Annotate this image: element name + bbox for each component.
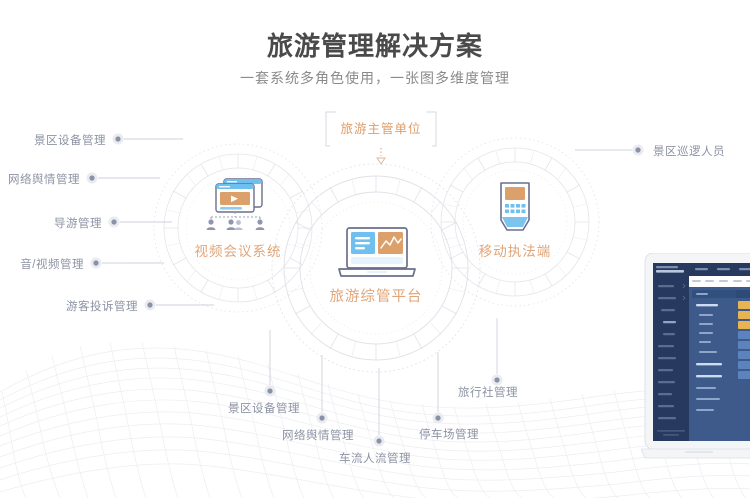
right-label-1[interactable]: 景区巡逻人员: [653, 143, 725, 159]
bottom-label-3[interactable]: 车流人流管理: [339, 450, 411, 466]
right-node-caption[interactable]: 移动执法端: [460, 240, 570, 260]
left-node-caption[interactable]: 视频会议系统: [178, 240, 298, 260]
authority-badge[interactable]: 旅游主管单位: [331, 114, 431, 140]
left-label-1[interactable]: 景区设备管理: [0, 132, 106, 148]
left-label-3[interactable]: 导游管理: [0, 215, 102, 231]
bottom-label-4[interactable]: 停车场管理: [419, 426, 479, 442]
bottom-label-5[interactable]: 旅行社管理: [458, 384, 518, 400]
left-label-2[interactable]: 网络舆情管理: [0, 171, 80, 187]
bottom-label-1[interactable]: 景区设备管理: [228, 400, 300, 416]
right-connector-dots: [633, 145, 644, 156]
bottom-label-2[interactable]: 网络舆情管理: [282, 427, 354, 443]
center-node-caption[interactable]: 旅游综管平台: [316, 285, 436, 306]
left-label-4[interactable]: 音/视频管理: [0, 256, 84, 272]
authority-arrow: [377, 148, 385, 164]
laptop-dashboard-icon: [333, 226, 421, 282]
tourism-dashboard-laptop[interactable]: [641, 253, 750, 485]
infographic-canvas: 旅游管理解决方案 一套系统多角色使用，一张图多维度管理: [0, 0, 750, 498]
mobile-enforcement-icon: [493, 180, 537, 238]
bottom-connectors: [270, 318, 497, 435]
video-conference-icon: [198, 176, 278, 232]
left-label-5[interactable]: 游客投诉管理: [0, 298, 138, 314]
